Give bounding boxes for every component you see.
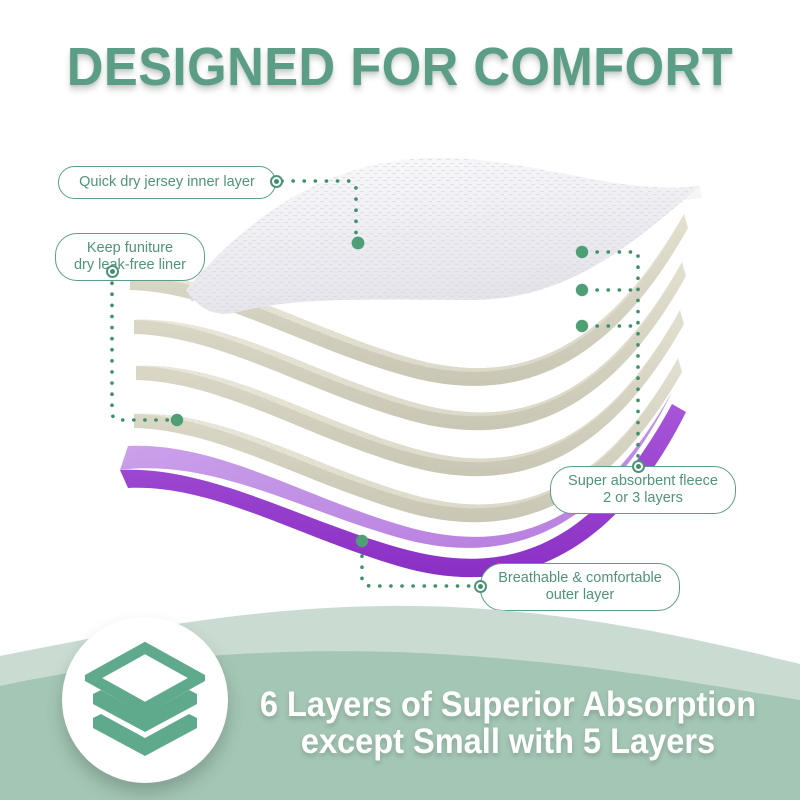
callout-super-absorbent-fleece[interactable]: Super absorbent fleece 2 or 3 layers: [550, 466, 736, 514]
layers-badge: [62, 617, 228, 783]
callout-leak-free-liner[interactable]: Keep funiture dry leak-free liner: [55, 233, 205, 281]
infographic-canvas: DESIGNED FOR COMFORT: [0, 0, 800, 800]
callout-node-quick-dry-jersey: [270, 175, 283, 188]
banner-headline: 6 Layers of Superior Absorption except S…: [248, 686, 769, 761]
callout-node-super-absorbent-fleece: [632, 460, 645, 473]
callout-node-leak-free-liner: [106, 265, 119, 278]
layers-stack-icon: [85, 642, 205, 758]
callout-quick-dry-jersey[interactable]: Quick dry jersey inner layer: [58, 166, 276, 199]
